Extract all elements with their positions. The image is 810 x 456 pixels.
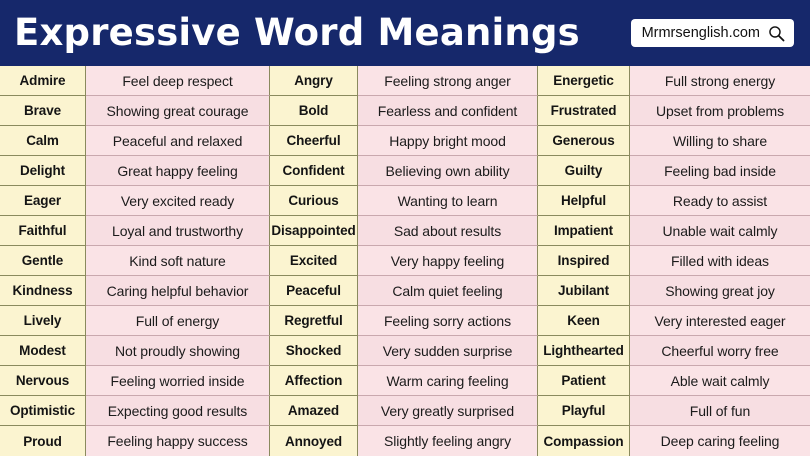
word-cell: Bold	[270, 96, 358, 126]
meaning-cell: Feeling happy success	[86, 426, 270, 456]
word-cell: Peaceful	[270, 276, 358, 306]
search-icon[interactable]	[768, 25, 785, 42]
meaning-cell: Very interested eager	[630, 306, 810, 336]
word-cell: Impatient	[538, 216, 630, 246]
word-cell: Cheerful	[270, 126, 358, 156]
table-row: CalmPeaceful and relaxedCheerfulHappy br…	[0, 126, 810, 156]
word-cell: Brave	[0, 96, 86, 126]
word-cell: Amazed	[270, 396, 358, 426]
word-cell: Regretful	[270, 306, 358, 336]
word-cell: Kindness	[0, 276, 86, 306]
word-cell: Helpful	[538, 186, 630, 216]
word-cell: Angry	[270, 66, 358, 96]
table-row: ProudFeeling happy successAnnoyedSlightl…	[0, 426, 810, 456]
word-cell: Lively	[0, 306, 86, 336]
word-cell: Modest	[0, 336, 86, 366]
search-box[interactable]: Mrmrsenglish.com	[631, 19, 794, 47]
table-row: LivelyFull of energyRegretfulFeeling sor…	[0, 306, 810, 336]
meaning-cell: Feeling strong anger	[358, 66, 538, 96]
meaning-cell: Willing to share	[630, 126, 810, 156]
word-cell: Nervous	[0, 366, 86, 396]
word-cell: Excited	[270, 246, 358, 276]
meaning-cell: Believing own ability	[358, 156, 538, 186]
table-row: GentleKind soft natureExcitedVery happy …	[0, 246, 810, 276]
word-cell: Affection	[270, 366, 358, 396]
meaning-cell: Feeling worried inside	[86, 366, 270, 396]
word-meaning-table: AdmireFeel deep respectAngryFeeling stro…	[0, 66, 810, 456]
table-row: BraveShowing great courageBoldFearless a…	[0, 96, 810, 126]
table-row: DelightGreat happy feelingConfidentBelie…	[0, 156, 810, 186]
meaning-cell: Feel deep respect	[86, 66, 270, 96]
word-cell: Delight	[0, 156, 86, 186]
meaning-cell: Upset from problems	[630, 96, 810, 126]
meaning-cell: Very sudden surprise	[358, 336, 538, 366]
word-cell: Disappointed	[270, 216, 358, 246]
meaning-cell: Not proudly showing	[86, 336, 270, 366]
word-cell: Optimistic	[0, 396, 86, 426]
word-cell: Keen	[538, 306, 630, 336]
meaning-cell: Very greatly surprised	[358, 396, 538, 426]
meaning-cell: Cheerful worry free	[630, 336, 810, 366]
meaning-cell: Showing great joy	[630, 276, 810, 306]
meaning-cell: Fearless and confident	[358, 96, 538, 126]
meaning-cell: Slightly feeling angry	[358, 426, 538, 456]
word-cell: Guilty	[538, 156, 630, 186]
table-row: AdmireFeel deep respectAngryFeeling stro…	[0, 66, 810, 96]
table-row: ModestNot proudly showingShockedVery sud…	[0, 336, 810, 366]
meaning-cell: Sad about results	[358, 216, 538, 246]
page-root: Expressive Word Meanings Mrmrsenglish.co…	[0, 0, 810, 456]
word-cell: Eager	[0, 186, 86, 216]
page-title: Expressive Word Meanings	[14, 14, 580, 51]
word-cell: Frustrated	[538, 96, 630, 126]
meaning-cell: Expecting good results	[86, 396, 270, 426]
meaning-cell: Kind soft nature	[86, 246, 270, 276]
meaning-cell: Full strong energy	[630, 66, 810, 96]
page-header: Expressive Word Meanings Mrmrsenglish.co…	[0, 0, 810, 66]
word-cell: Playful	[538, 396, 630, 426]
meaning-cell: Able wait calmly	[630, 366, 810, 396]
meaning-cell: Filled with ideas	[630, 246, 810, 276]
meaning-cell: Full of fun	[630, 396, 810, 426]
word-cell: Admire	[0, 66, 86, 96]
meaning-cell: Ready to assist	[630, 186, 810, 216]
word-cell: Lighthearted	[538, 336, 630, 366]
word-cell: Faithful	[0, 216, 86, 246]
word-cell: Energetic	[538, 66, 630, 96]
word-cell: Gentle	[0, 246, 86, 276]
meaning-cell: Wanting to learn	[358, 186, 538, 216]
word-cell: Annoyed	[270, 426, 358, 456]
word-cell: Curious	[270, 186, 358, 216]
meaning-cell: Feeling bad inside	[630, 156, 810, 186]
meaning-cell: Caring helpful behavior	[86, 276, 270, 306]
word-cell: Patient	[538, 366, 630, 396]
meaning-cell: Deep caring feeling	[630, 426, 810, 456]
meaning-cell: Unable wait calmly	[630, 216, 810, 246]
table-row: EagerVery excited readyCuriousWanting to…	[0, 186, 810, 216]
word-cell: Compassion	[538, 426, 630, 456]
word-cell: Proud	[0, 426, 86, 456]
word-cell: Jubilant	[538, 276, 630, 306]
meaning-cell: Very excited ready	[86, 186, 270, 216]
word-cell: Calm	[0, 126, 86, 156]
table-row: OptimisticExpecting good resultsAmazedVe…	[0, 396, 810, 426]
table-row: NervousFeeling worried insideAffectionWa…	[0, 366, 810, 396]
meaning-cell: Happy bright mood	[358, 126, 538, 156]
meaning-cell: Peaceful and relaxed	[86, 126, 270, 156]
table-row: KindnessCaring helpful behaviorPeacefulC…	[0, 276, 810, 306]
meaning-cell: Great happy feeling	[86, 156, 270, 186]
word-cell: Shocked	[270, 336, 358, 366]
meaning-cell: Warm caring feeling	[358, 366, 538, 396]
word-cell: Confident	[270, 156, 358, 186]
word-cell: Generous	[538, 126, 630, 156]
meaning-cell: Very happy feeling	[358, 246, 538, 276]
search-input[interactable]: Mrmrsenglish.com	[642, 26, 760, 41]
meaning-cell: Calm quiet feeling	[358, 276, 538, 306]
meaning-cell: Showing great courage	[86, 96, 270, 126]
meaning-cell: Loyal and trustworthy	[86, 216, 270, 246]
meaning-cell: Full of energy	[86, 306, 270, 336]
meaning-cell: Feeling sorry actions	[358, 306, 538, 336]
word-cell: Inspired	[538, 246, 630, 276]
table-row: FaithfulLoyal and trustworthyDisappointe…	[0, 216, 810, 246]
